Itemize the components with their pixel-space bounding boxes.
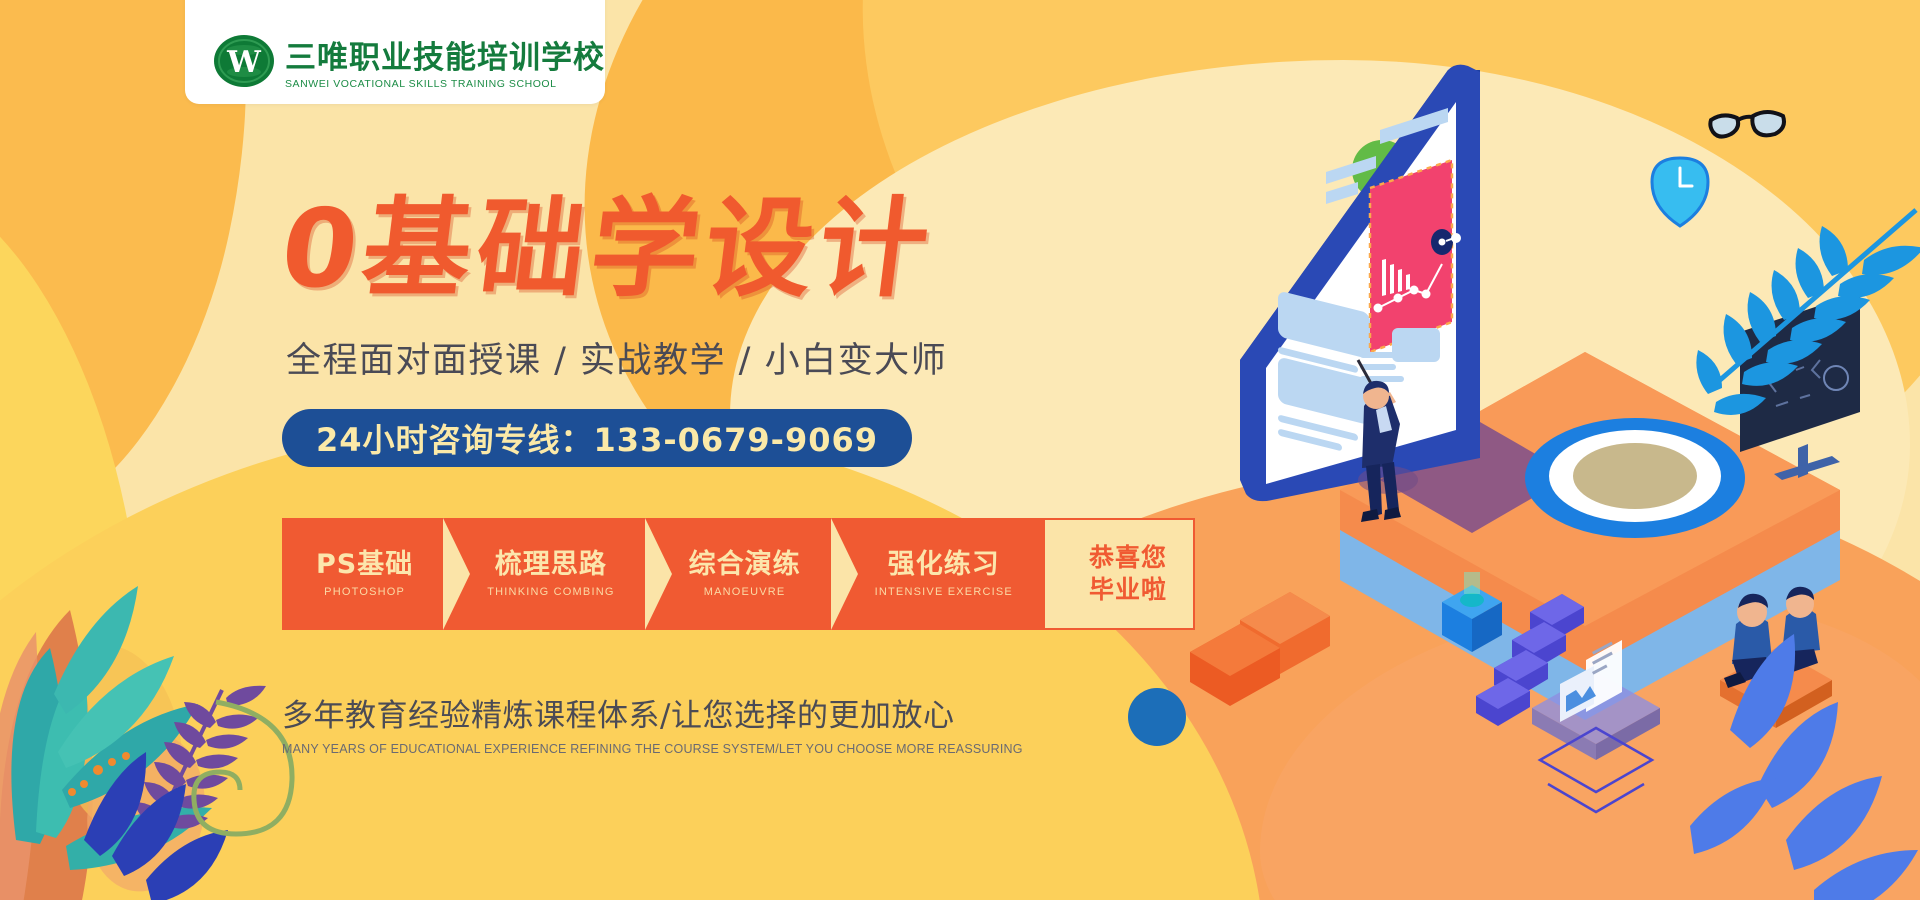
- glasses-icon: [1705, 108, 1791, 148]
- graduation-line-2: 毕业啦: [1089, 574, 1167, 606]
- headline-subtitle: 全程面对面授课 / 实战教学 / 小白变大师: [286, 332, 1182, 383]
- step-label-en: MANOEUVRE: [704, 586, 786, 598]
- headline-block: 0基础学设计 全程面对面授课 / 实战教学 / 小白变大师 24小时咨询专线：1…: [282, 196, 1182, 467]
- logo-name-en: SANWEI VOCATIONAL SKILLS TRAINING SCHOOL: [285, 78, 605, 90]
- step-label-cn: PS基础: [316, 550, 413, 580]
- iso-chart-panel: [1370, 160, 1461, 352]
- school-logo-badge[interactable]: W 三唯职业技能培训学校 SANWEI VOCATIONAL SKILLS TR…: [185, 0, 605, 104]
- step-item-graduation[interactable]: 恭喜您 毕业啦: [1043, 518, 1195, 630]
- promo-banner: W 三唯职业技能培训学校 SANWEI VOCATIONAL SKILLS TR…: [0, 0, 1920, 900]
- graduation-line-1: 恭喜您: [1089, 542, 1167, 574]
- tagline-block: 多年教育经验精炼课程体系/让您选择的更加放心 MANY YEARS OF EDU…: [282, 690, 1023, 756]
- step-item-2[interactable]: 梳理思路 THINKING COMBING: [443, 518, 644, 630]
- tagline-cn: 多年教育经验精炼课程体系/让您选择的更加放心: [282, 690, 1023, 735]
- step-label-cn: 综合演练: [689, 550, 801, 580]
- step-label-en: PHOTOSHOP: [324, 586, 405, 598]
- iso-orange-steps: [1190, 592, 1330, 706]
- page-title: 0基础学设计: [275, 196, 1188, 304]
- step-item-3[interactable]: 综合演练 MANOEUVRE: [645, 518, 831, 630]
- step-label-cn: 梳理思路: [495, 550, 607, 580]
- blue-circle-decoration: [1128, 688, 1186, 746]
- tagline-en: MANY YEARS OF EDUCATIONAL EXPERIENCE REF…: [282, 742, 1023, 756]
- svg-text:W: W: [226, 45, 262, 80]
- step-item-1[interactable]: PS基础 PHOTOSHOP: [282, 518, 443, 630]
- tropical-leaves-left: [0, 440, 400, 900]
- logo-name-cn: 三唯职业技能培训学校: [285, 42, 605, 75]
- course-steps: PS基础 PHOTOSHOP 梳理思路 THINKING COMBING 综合演…: [282, 518, 1195, 630]
- hotline-button[interactable]: 24小时咨询专线：133-0679-9069: [282, 409, 912, 467]
- step-label-cn: 强化练习: [888, 550, 1000, 580]
- iso-tablet-screen: [1240, 65, 1480, 501]
- step-item-4[interactable]: 强化练习 INTENSIVE EXERCISE: [831, 518, 1043, 630]
- blue-leaves-right-lower: [1630, 590, 1920, 900]
- w-emblem-icon: W: [213, 32, 275, 90]
- step-label-en: THINKING COMBING: [487, 586, 614, 598]
- step-label-en: INTENSIVE EXERCISE: [875, 586, 1013, 598]
